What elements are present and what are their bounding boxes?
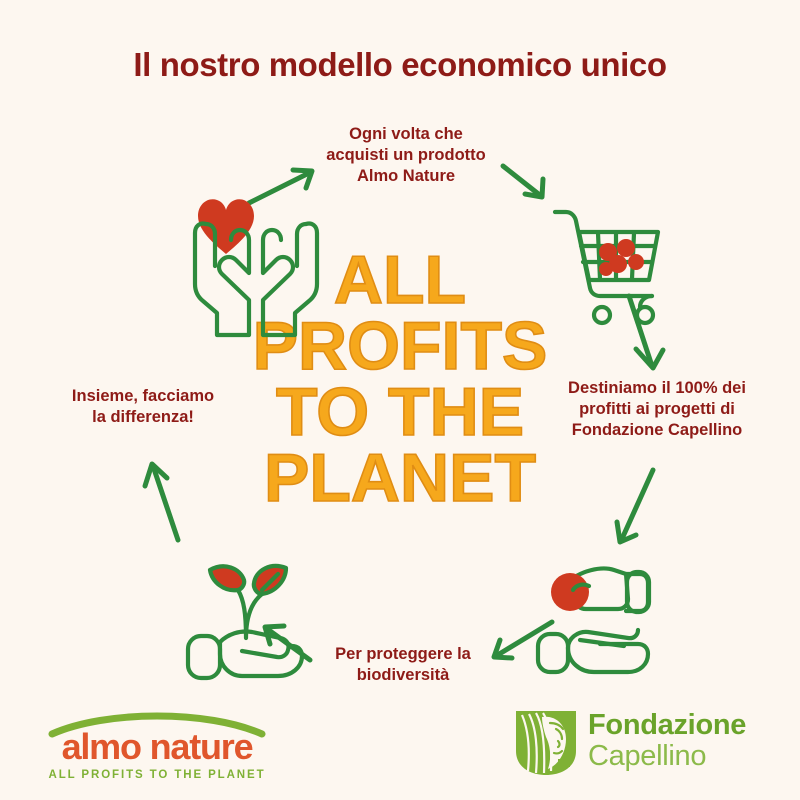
caption-line: profitti ai progetti di xyxy=(548,399,766,420)
arrow-to-sprout-icon xyxy=(265,626,310,660)
hand-holding-sprout-icon xyxy=(188,566,302,678)
shopping-cart-icon xyxy=(555,212,658,323)
caption-line: acquisti un prodotto xyxy=(300,145,512,166)
caption-line: la differenza! xyxy=(48,407,238,428)
caption-line: biodiversità xyxy=(308,665,498,686)
caption-step-cart: Destiniamo il 100% dei profitti ai proge… xyxy=(548,378,766,441)
caption-line: Insieme, facciamo xyxy=(48,386,238,407)
page-title: Il nostro modello economico unico xyxy=(0,46,800,84)
headline-line-1: ALL xyxy=(238,248,562,314)
caption-line: Per proteggere la xyxy=(308,644,498,665)
almo-nature-wordmark: almo nature xyxy=(44,729,270,765)
caption-line: Ogni volta che xyxy=(300,124,512,145)
fondazione-capellino-logo[interactable]: Fondazione Capellino xyxy=(512,706,762,780)
headline-line-3: TO THE xyxy=(238,380,562,446)
caption-step-purchase: Ogni volta che acquisti un prodotto Almo… xyxy=(300,124,512,187)
hands-giving-icon xyxy=(538,569,649,672)
headline-all-profits-to-the-planet: ALL PROFITS TO THE PLANET xyxy=(238,248,562,512)
fondazione-capellino-line2: Capellino xyxy=(588,741,746,772)
caption-line: Fondazione Capellino xyxy=(548,420,766,441)
caption-step-difference: Insieme, facciamo la differenza! xyxy=(48,386,238,428)
fondazione-capellino-face-mark-icon xyxy=(512,707,580,779)
headline-line-2: PROFITS xyxy=(238,314,562,380)
almo-nature-logo[interactable]: almo nature ALL PROFITS TO THE PLANET xyxy=(44,712,270,782)
fondazione-capellino-wordmark: Fondazione Capellino xyxy=(588,710,746,773)
caption-step-biodiversity: Per proteggere la biodiversità xyxy=(308,644,498,686)
fondazione-capellino-line1: Fondazione xyxy=(588,710,746,741)
infographic-canvas: Il nostro modello economico unico ALL PR… xyxy=(0,0,800,800)
arrow-to-difference-caption xyxy=(145,464,178,540)
arrow-to-biodiversity-caption xyxy=(494,622,552,658)
caption-line: Destiniamo il 100% dei xyxy=(548,378,766,399)
caption-line: Almo Nature xyxy=(300,166,512,187)
almo-nature-tagline: ALL PROFITS TO THE PLANET xyxy=(44,769,270,781)
arrow-to-giving-hands-icon xyxy=(617,470,653,542)
arrow-to-donation-caption xyxy=(629,296,663,368)
headline-line-4: PLANET xyxy=(238,446,562,512)
